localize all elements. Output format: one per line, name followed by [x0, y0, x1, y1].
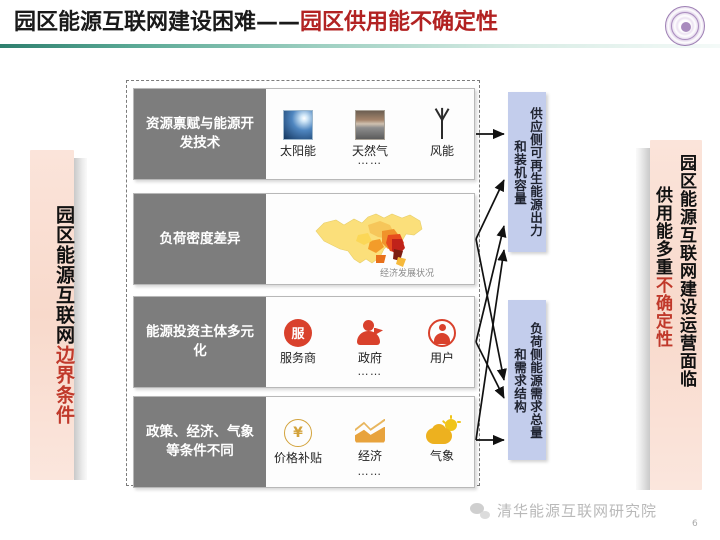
page-title-main: 园区能源互联网建设困难—— — [14, 10, 300, 35]
item-label-price-subsidy: 价格补贴 — [274, 449, 322, 466]
outcome-demand-line-1: 负荷侧能源需求总量 — [528, 322, 543, 439]
footer-watermark: 清华能源互联网研究院 — [470, 500, 657, 521]
arrow-policy-to-supply — [476, 250, 504, 440]
row-ellipsis-investors: …… — [266, 365, 474, 378]
map-caption: 经济发展状况 — [380, 266, 434, 279]
item-label-weather: 气象 — [430, 447, 454, 464]
row-label-load-density: 负荷密度差异 — [134, 194, 266, 284]
page-number: 6 — [692, 519, 698, 529]
solar-photo-icon — [283, 110, 313, 140]
row-content-policy: ¥ 价格补贴 经济 气象 — [266, 397, 474, 487]
left-condition-bar: 园区能源互联网边界条件 — [30, 150, 74, 480]
item-economy: 经济 — [341, 419, 399, 464]
item-label-government: 政府 — [358, 349, 382, 366]
outcome-box-supply: 供应侧可再生能源出力和装机容量 — [508, 92, 546, 252]
arrow-investors-to-demand — [476, 342, 504, 398]
outcome-demand-text: 负荷侧能源需求总量和需求结构 — [511, 322, 543, 439]
arrow-load-to-supply — [476, 180, 504, 239]
row-content-investors: 服 服务商 政府 用户 …… — [266, 297, 474, 387]
weather-sun-cloud-icon — [426, 419, 458, 445]
page-title-highlight: 园区供用能不确定性 — [300, 10, 498, 35]
wind-turbine-icon — [427, 110, 457, 140]
arrow-load-to-demand — [476, 239, 504, 380]
item-label-user: 用户 — [430, 349, 454, 366]
left-bar-text: 园区能源互联网边界条件 — [30, 205, 74, 425]
right-bar-column-2-highlight: 不确定性 — [652, 276, 672, 348]
right-bar-column-2: 供用能多重不确定性 — [653, 186, 671, 348]
outcome-supply-text: 供应侧可再生能源出力和装机容量 — [511, 107, 543, 237]
right-outcome-bar: 园区能源互联网建设运营面临 供用能多重不确定性 — [650, 140, 702, 490]
outcome-box-demand: 负荷侧能源需求总量和需求结构 — [508, 300, 546, 460]
row-content-load-density: 经济发展状况 — [266, 194, 474, 284]
row-content-resources: 太阳能 天然气 风能 …… — [266, 89, 474, 179]
condition-row-policy: 政策、经济、气象等条件不同 ¥ 价格补贴 经济 — [133, 396, 475, 488]
right-bar-column-2-main: 供用能多重 — [652, 186, 672, 276]
outcome-demand-line-2: 和需求结构 — [512, 348, 527, 413]
item-natural-gas: 天然气 — [341, 110, 399, 159]
header-divider — [0, 44, 720, 48]
row-label-resources: 资源禀赋与能源开发技术 — [134, 89, 266, 179]
condition-row-resources: 资源禀赋与能源开发技术 太阳能 天然气 风能 — [133, 88, 475, 180]
item-weather: 气象 — [413, 419, 471, 464]
yen-subsidy-icon: ¥ — [284, 419, 312, 447]
outcome-supply-line-2: 和装机容量 — [512, 140, 527, 205]
item-solar: 太阳能 — [269, 110, 327, 159]
row-label-investors: 能源投资主体多元化 — [134, 297, 266, 387]
page-title: 园区能源互联网建设困难——园区供用能不确定性 — [14, 9, 498, 37]
slide-header: 园区能源互联网建设困难——园区供用能不确定性 — [0, 0, 720, 52]
item-wind: 风能 — [413, 110, 471, 159]
item-price-subsidy: ¥ 价格补贴 — [269, 419, 327, 466]
right-bar-column-1: 园区能源互联网建设运营面临 — [677, 154, 695, 388]
footer-watermark-text: 清华能源互联网研究院 — [497, 500, 657, 521]
left-bar-shadow — [74, 158, 87, 480]
service-provider-icon: 服 — [284, 319, 312, 347]
slide-root: 园区能源互联网建设困难——园区供用能不确定性 园区能源互联网边界条件 园区能源互… — [0, 0, 720, 540]
wechat-icon — [470, 503, 490, 519]
left-bar-text-highlight: 边界条件 — [30, 345, 74, 425]
right-bar-shadow — [636, 148, 650, 490]
arrow-investors-to-supply — [476, 226, 504, 342]
row-ellipsis-policy: …… — [266, 465, 474, 478]
item-label-economy: 经济 — [358, 447, 382, 464]
item-label-service-provider: 服务商 — [280, 349, 316, 366]
outcome-supply-line-1: 供应侧可再生能源出力 — [528, 107, 543, 237]
item-user: 用户 — [413, 319, 471, 366]
row-ellipsis-resources: …… — [266, 154, 474, 167]
left-bar-text-main: 园区能源互联网 — [30, 205, 74, 345]
economy-chart-icon — [355, 419, 385, 445]
condition-row-load-density: 负荷密度差异 经济发展状况 — [133, 193, 475, 285]
user-icon — [428, 319, 456, 347]
natural-gas-pipeline-icon — [355, 110, 385, 140]
item-government: 政府 — [341, 319, 399, 366]
tsinghua-seal-icon — [665, 6, 705, 46]
item-service-provider: 服 服务商 — [269, 319, 327, 366]
row-label-policy: 政策、经济、气象等条件不同 — [134, 397, 266, 487]
china-map-wrapper: 经济发展状况 — [310, 201, 430, 277]
government-icon — [355, 319, 385, 347]
condition-row-investors: 能源投资主体多元化 服 服务商 政府 用户 — [133, 296, 475, 388]
